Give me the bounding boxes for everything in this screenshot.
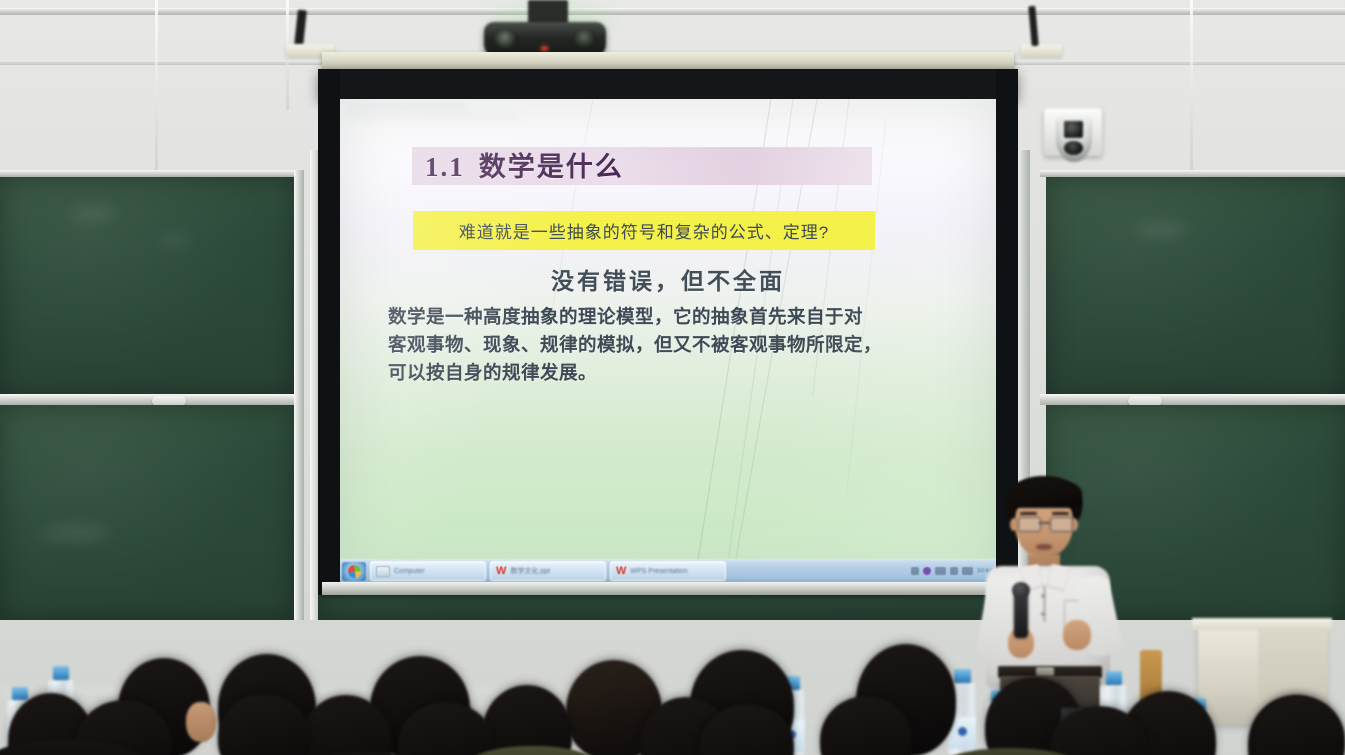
wall-rail-top [0, 8, 1345, 15]
taskbar-item-label: WPS Presentation [630, 568, 687, 575]
network-icon[interactable] [935, 567, 946, 575]
slide-surface: 1.1数学是什么 难道就是一些抽象的符号和复杂的公式、定理? 没有错误，但不全面… [340, 99, 996, 582]
audience-head [1050, 706, 1148, 755]
slide-title-number: 1.1 [425, 152, 465, 182]
presenter-placket [1043, 586, 1046, 622]
slide-highlight-question: 难道就是一些抽象的符号和复杂的公式、定理? [413, 211, 875, 250]
audience-head [700, 704, 794, 755]
windows-logo-icon [347, 564, 362, 579]
wps-presentation-icon: W [616, 566, 626, 577]
board-frame-left-top [0, 170, 300, 177]
folder-icon [376, 566, 390, 577]
camera-lens-upper [1062, 119, 1085, 140]
taskbar-item-computer[interactable]: Computer [370, 561, 486, 581]
wall-seam-2 [1190, 0, 1193, 170]
presenter-glasses-bridge [1039, 522, 1050, 524]
slide-title-text: 数学是什么 [479, 152, 624, 182]
chalkboard-right-upper [1046, 177, 1345, 397]
start-button[interactable] [342, 562, 366, 581]
slide-title: 1.1数学是什么 [425, 151, 624, 183]
slide-subhead: 没有错误，但不全面 [340, 262, 996, 296]
presenter-brow-right [1052, 512, 1069, 515]
desktop-artifact-1 [348, 105, 468, 108]
board-frame-right-mid [1040, 394, 1345, 405]
screen-weight-bar [322, 582, 1014, 595]
windows-taskbar[interactable]: Computer W 数学文化.ppt W WPS Presentation [340, 559, 996, 582]
chalkboard-left-upper [0, 177, 294, 397]
taskbar-item-label: Computer [394, 568, 425, 575]
projector-power-led [541, 46, 548, 51]
screen-left-border [318, 69, 340, 595]
presenter-hair-top [1008, 478, 1082, 508]
screen-valance [322, 52, 1014, 69]
input-method-icon[interactable] [923, 567, 931, 575]
audience-head [398, 702, 494, 755]
microphone-head [1012, 582, 1030, 598]
chalkboard-left-lower [0, 405, 294, 620]
board-frame-right-top [1040, 170, 1345, 177]
board-frame-left-right-edge [294, 170, 304, 620]
taskbar-item-wps-presentation[interactable]: W WPS Presentation [610, 561, 726, 581]
audience-front-row [0, 690, 1345, 755]
presenter-ear-left [1010, 518, 1018, 531]
board-frame-left-mid [0, 394, 300, 405]
wall-seam-1 [155, 0, 158, 175]
wall-rail-right [1010, 60, 1345, 65]
presenter-glasses-left [1018, 517, 1041, 532]
presenter-shirt-button-1 [1041, 594, 1045, 598]
wall-rail-left [0, 60, 330, 65]
audience-head [218, 694, 310, 755]
presenter-mouth [1036, 544, 1052, 550]
screen-top-border [318, 69, 1018, 99]
presenter-shirt-button-2 [1041, 612, 1045, 616]
taskbar-item-wps-writer[interactable]: W 数学文化.ppt [490, 561, 606, 581]
projector-vent [574, 30, 596, 47]
show-hidden-icons-icon[interactable] [911, 567, 919, 575]
desktop-artifact-2 [348, 115, 518, 118]
camera-lens-lower [1064, 141, 1083, 155]
projector-lens [494, 30, 518, 48]
slide-body: 数学是一种高度抽象的理论模型，它的抽象首先来自于对 客观事物、现象、规律的模拟，… [388, 303, 958, 387]
presenter-brow-left [1020, 512, 1037, 515]
presenter-glasses-right [1050, 517, 1073, 532]
audience-head [1255, 696, 1345, 755]
audience-head [820, 696, 912, 755]
volume-icon[interactable] [950, 567, 958, 575]
slide-body-line-1: 数学是一种高度抽象的理论模型，它的抽象首先来自于对 [388, 303, 958, 331]
slide-body-line-3: 可以按自身的规律发展。 [388, 359, 958, 387]
wps-writer-icon: W [496, 566, 506, 577]
slide-body-line-2: 客观事物、现象、规律的模拟，但又不被客观事物所限定， [388, 331, 958, 359]
taskbar-item-label: 数学文化.ppt [510, 566, 550, 576]
slide-highlight-text: 难道就是一些抽象的符号和复杂的公式、定理? [459, 218, 829, 243]
wall-bracket-right [1020, 44, 1062, 57]
lecture-hall-scene: 1.1数学是什么 难道就是一些抽象的符号和复杂的公式、定理? 没有错误，但不全面… [0, 0, 1345, 755]
